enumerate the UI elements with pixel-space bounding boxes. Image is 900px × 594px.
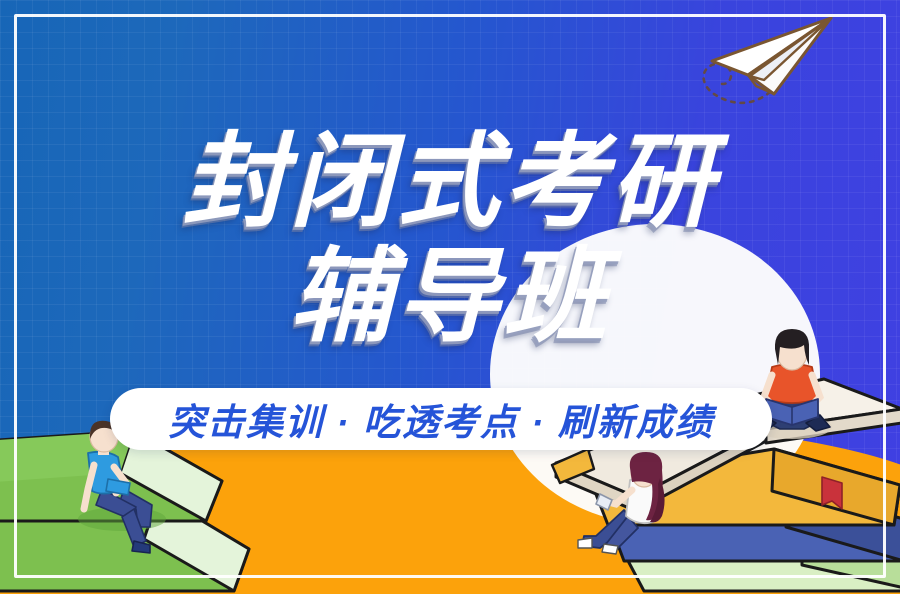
headline-line-1: 封闭式考研 — [0, 126, 900, 237]
promo-banner: 封闭式考研 辅导班 突击集训 · 吃透考点 · 刷新成绩 — [0, 0, 900, 594]
subtitle-text: 突击集训 · 吃透考点 · 刷新成绩 — [168, 392, 714, 446]
reader-base-right — [576, 458, 688, 562]
paper-plane-icon — [678, 6, 848, 141]
subtitle-pill: 突击集训 · 吃透考点 · 刷新成绩 — [110, 388, 772, 450]
